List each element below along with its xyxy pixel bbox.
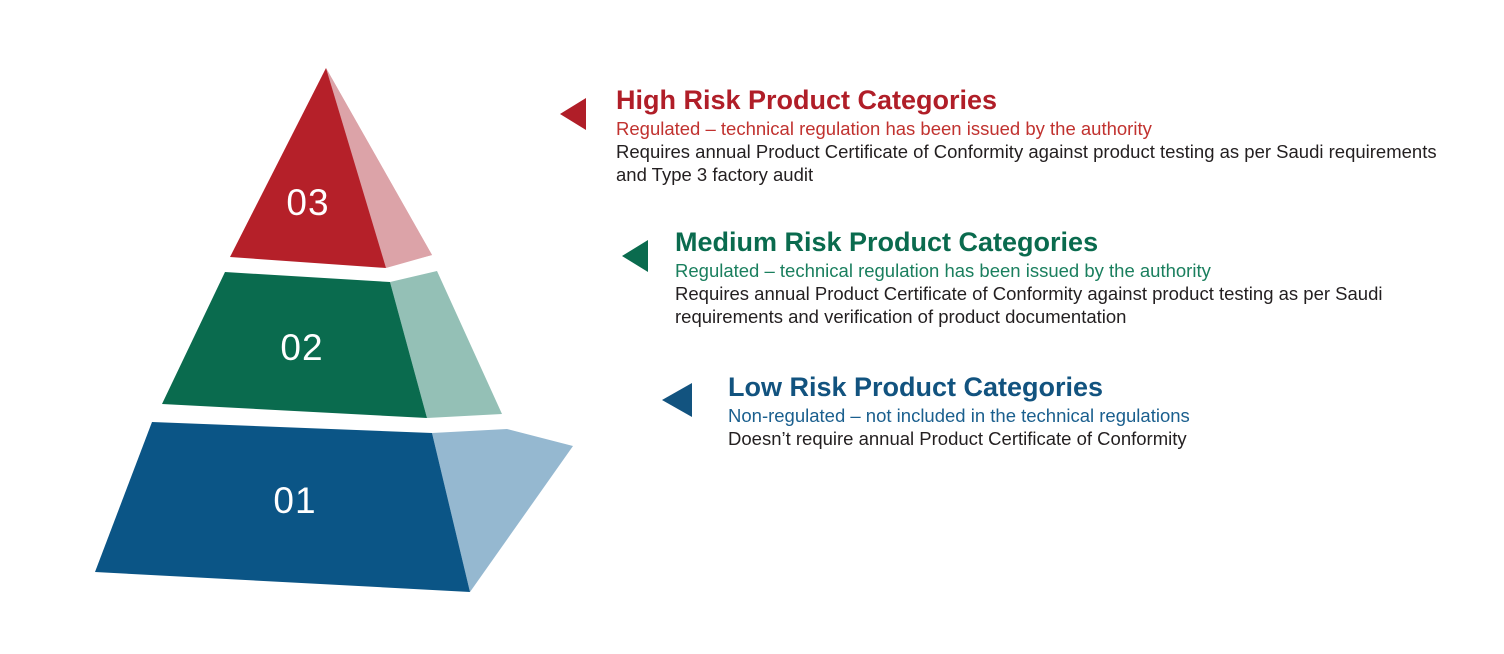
risk-block-medium: Medium Risk Product Categories Regulated… — [622, 226, 1492, 328]
triangle-left-icon — [622, 240, 648, 272]
risk-body-high: Requires annual Product Certificate of C… — [616, 140, 1456, 186]
pyramid-tier-low-number: 01 — [273, 480, 316, 521]
risk-subtitle-low: Non-regulated – not included in the tech… — [728, 404, 1492, 427]
pyramid-tier-high-number: 03 — [286, 182, 329, 223]
pyramid-tier-high[interactable]: 03 — [230, 68, 432, 268]
risk-title-high: High Risk Product Categories — [616, 84, 1490, 116]
risk-row-low: Low Risk Product Categories Non-regulate… — [662, 371, 1492, 450]
pyramid-diagram: 03 02 01 — [0, 0, 600, 654]
triangle-left-icon — [560, 98, 586, 130]
risk-title-medium: Medium Risk Product Categories — [675, 226, 1492, 258]
risk-row-high: High Risk Product Categories Regulated –… — [560, 84, 1490, 186]
pyramid-tier-medium[interactable]: 02 — [162, 271, 502, 418]
pyramid-svg: 03 02 01 — [0, 0, 600, 654]
risk-block-high: High Risk Product Categories Regulated –… — [560, 84, 1490, 186]
risk-body-medium: Requires annual Product Certificate of C… — [675, 282, 1450, 328]
risk-pyramid-infographic: 03 02 01 High Risk Product Categories — [0, 0, 1504, 654]
risk-body-low: Doesn’t require annual Product Certifica… — [728, 427, 1428, 450]
risk-text-low: Low Risk Product Categories Non-regulate… — [728, 371, 1492, 450]
risk-subtitle-medium: Regulated – technical regulation has bee… — [675, 259, 1492, 282]
risk-block-low: Low Risk Product Categories Non-regulate… — [662, 371, 1492, 450]
pyramid-tier-medium-number: 02 — [280, 327, 323, 368]
risk-title-low: Low Risk Product Categories — [728, 371, 1492, 403]
triangle-left-icon — [662, 383, 692, 417]
risk-row-medium: Medium Risk Product Categories Regulated… — [622, 226, 1492, 328]
risk-text-medium: Medium Risk Product Categories Regulated… — [675, 226, 1492, 328]
risk-text-high: High Risk Product Categories Regulated –… — [616, 84, 1490, 186]
risk-subtitle-high: Regulated – technical regulation has bee… — [616, 117, 1490, 140]
pyramid-tier-low[interactable]: 01 — [95, 422, 573, 592]
